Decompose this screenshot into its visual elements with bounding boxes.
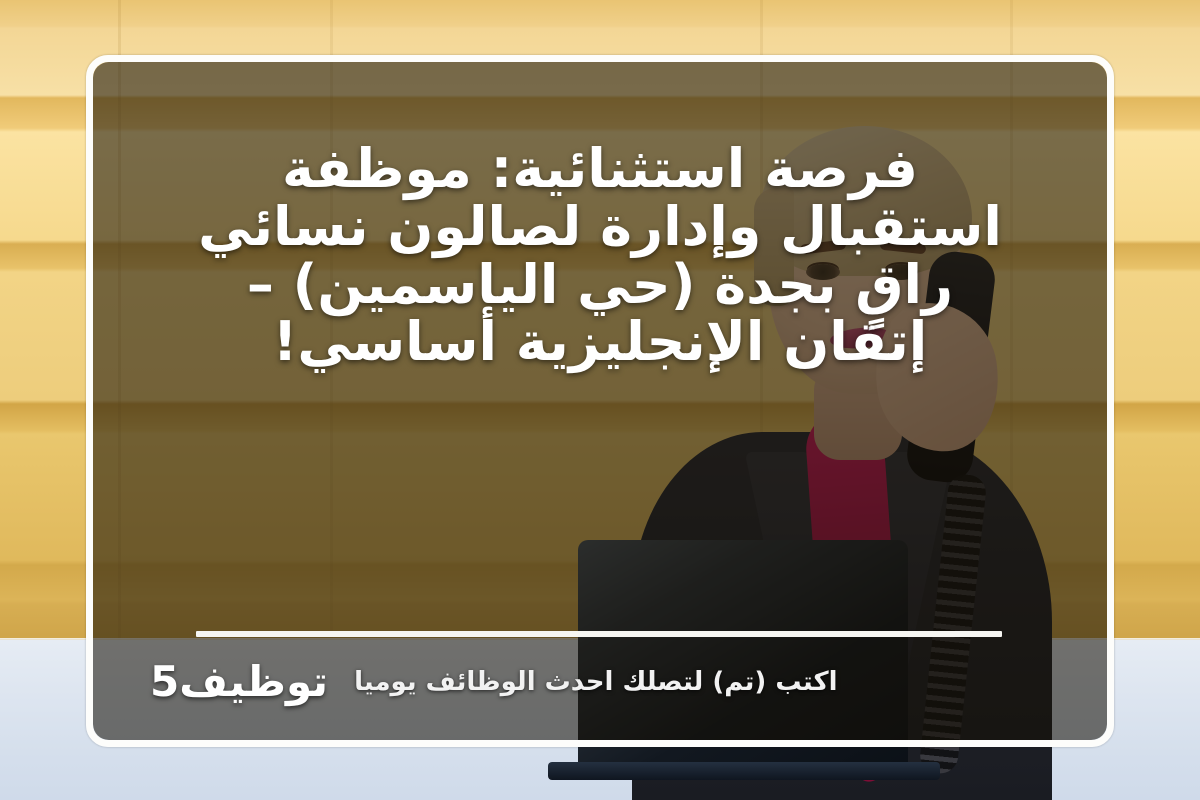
brand-name: توظيف5 [150, 661, 328, 703]
footer-tagline: اكتب (تم) لتصلك احدث الوظائف يوميا [354, 669, 837, 695]
footer-divider [196, 631, 1002, 637]
footer-bar: توظيف5 اكتب (تم) لتصلك احدث الوظائف يومي… [150, 654, 1010, 710]
headline-line-3: راقٍ بجدة (حي الياسمين) – [120, 256, 1080, 314]
headline-line-4: إتقان الإنجليزية أساسي! [120, 313, 1080, 371]
headline-line-2: استقبال وإدارة لصالون نسائي [120, 198, 1080, 256]
headline-line-1: فرصة استثنائية: موظفة [120, 140, 1080, 198]
laptop-base [548, 762, 940, 780]
headline: فرصة استثنائية: موظفة استقبال وإدارة لصا… [120, 140, 1080, 371]
banner-image: فرصة استثنائية: موظفة استقبال وإدارة لصا… [0, 0, 1200, 800]
